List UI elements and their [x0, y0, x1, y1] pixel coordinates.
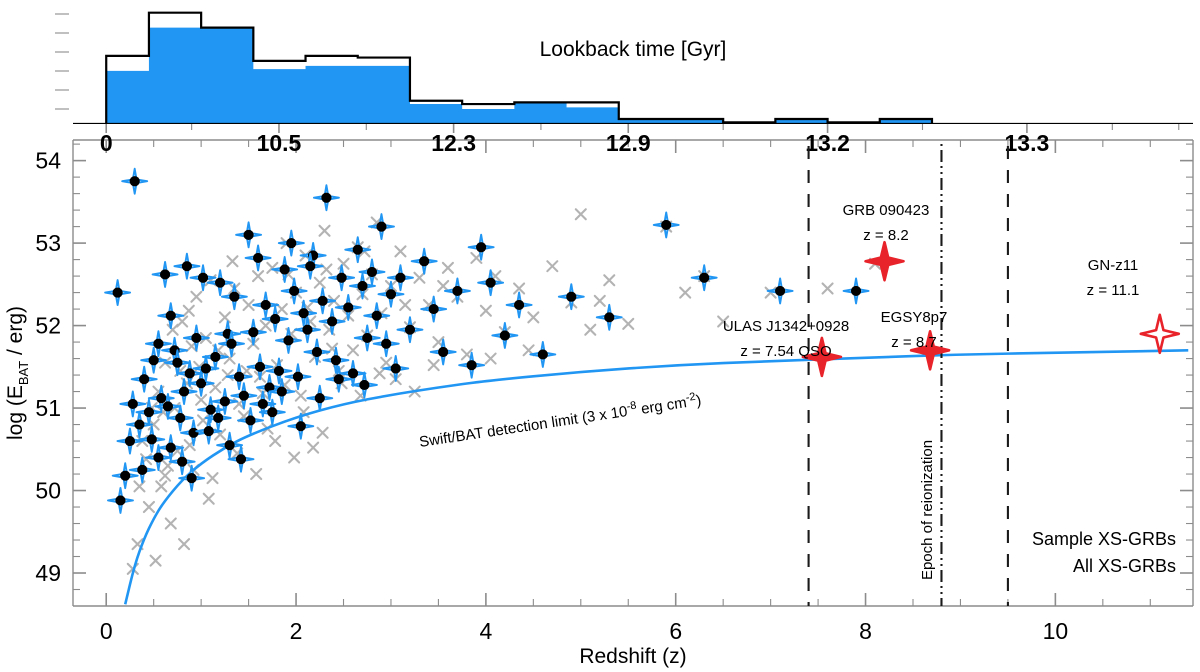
- sample-grb-dot: [220, 396, 230, 406]
- grb-energy-redshift-plot: Lookback time [Gyr] 010.512.312.913.213.…: [0, 0, 1200, 672]
- sample-grb-dot: [163, 401, 173, 411]
- x-tick-6: 6: [669, 618, 682, 644]
- sample-grb-dot: [156, 393, 166, 403]
- lookback-tick-10.5: 10.5: [257, 130, 302, 156]
- x-tick-10: 10: [1043, 618, 1069, 644]
- sample-grb-dot: [144, 407, 154, 417]
- sample-grb-dot: [699, 273, 709, 283]
- sample-grb-dot: [201, 363, 211, 373]
- sample-grb-dot: [514, 300, 524, 310]
- sample-grb-dot: [125, 436, 135, 446]
- sample-grb-dot: [337, 273, 347, 283]
- sample-grb-dot: [258, 399, 268, 409]
- sample-grb-dot: [270, 314, 280, 324]
- annotation-redshift-gn-z11: z = 11.1: [1087, 282, 1140, 299]
- sample-grb-dot: [139, 374, 149, 384]
- sample-grb-dot: [166, 311, 176, 321]
- sample-grb-dot: [153, 452, 163, 462]
- sample-grb-dot: [234, 372, 244, 382]
- sample-grb-dot: [604, 312, 614, 322]
- sample-grb-dot: [286, 238, 296, 248]
- sample-grb-dot: [175, 413, 185, 423]
- sample-grb-dot: [305, 261, 315, 271]
- sample-grb-dot: [191, 333, 201, 343]
- figure-root: Lookback time [Gyr] 010.512.312.913.213.…: [0, 0, 1200, 672]
- sample-grb-dot: [229, 292, 239, 302]
- sample-grb-dot: [274, 366, 284, 376]
- sample-grb-dot: [261, 300, 271, 310]
- sample-grb-dot: [283, 335, 293, 345]
- y-axis-title-suffix: / erg): [4, 306, 27, 361]
- sample-grb-dot: [160, 269, 170, 279]
- sample-grb-dot: [245, 415, 255, 425]
- sample-grb-dot: [386, 289, 396, 299]
- sample-grb-dot: [166, 443, 176, 453]
- legend-item-all: All XS-GRBs: [1073, 556, 1176, 576]
- annotation-redshift-egsy8p7: z = 8.7: [891, 334, 936, 351]
- y-tick-51: 51: [35, 395, 61, 421]
- sample-grb-dot: [172, 358, 182, 368]
- y-tick-53: 53: [35, 230, 61, 256]
- sample-grb-dot: [476, 242, 486, 252]
- sample-grb-dot: [538, 349, 548, 359]
- lookback-tick-13.2: 13.2: [805, 130, 850, 156]
- sample-grb-dot: [267, 407, 277, 417]
- sample-grb-dot: [225, 440, 235, 450]
- sample-grb-dot: [486, 278, 496, 288]
- y-axis-title-prefix: log (E: [4, 385, 27, 440]
- sample-grb-dot: [115, 495, 125, 505]
- x-tick-8: 8: [859, 618, 872, 644]
- sample-grb-dot: [296, 421, 306, 431]
- sample-grb-dot: [289, 286, 299, 296]
- sample-grb-dot: [177, 457, 187, 467]
- sample-grb-dot: [359, 380, 369, 390]
- sample-grb-dot: [206, 405, 216, 415]
- annotation-redshift-grb-090423: z = 8.2: [863, 227, 908, 244]
- sample-grb-dot: [147, 434, 157, 444]
- lookback-tick-12.9: 12.9: [606, 130, 651, 156]
- lookback-tick-0: 0: [100, 130, 113, 156]
- sample-grb-dot: [185, 368, 195, 378]
- sample-grb-dot: [348, 368, 358, 378]
- sample-grb-dot: [255, 362, 265, 372]
- sample-grb-dot: [236, 454, 246, 464]
- sample-grb-dot: [188, 428, 198, 438]
- sample-grb-dot: [851, 286, 861, 296]
- y-tick-54: 54: [35, 148, 61, 174]
- sample-grb-dot: [302, 325, 312, 335]
- sample-grb-dot: [277, 386, 287, 396]
- sample-grb-dot: [334, 374, 344, 384]
- legend-item-sample: Sample XS-GRBs: [1032, 529, 1176, 549]
- sample-grb-dot: [243, 230, 253, 240]
- annotation-name-grb-090423: GRB 090423: [843, 202, 930, 219]
- epoch-of-reionization-label: Epoch of reionization: [919, 440, 936, 580]
- sample-grb-dot: [312, 347, 322, 357]
- sample-grb-dot: [500, 330, 510, 340]
- sample-grb-dot: [120, 471, 130, 481]
- sample-grb-dot: [376, 222, 386, 232]
- sample-grb-dot: [213, 413, 223, 423]
- sample-grb-dot: [182, 261, 192, 271]
- sample-grb-dot: [134, 419, 144, 429]
- sample-grb-dot: [419, 256, 429, 266]
- sample-grb-dot: [405, 325, 415, 335]
- annotation-redshift-ulas-j1342: z = 7.54 QSO: [740, 343, 831, 360]
- sample-grb-dot: [253, 253, 263, 263]
- sample-grb-dot: [381, 339, 391, 349]
- sample-grb-dot: [179, 386, 189, 396]
- sample-grb-dot: [113, 287, 123, 297]
- sample-grb-dot: [215, 278, 225, 288]
- sample-grb-dot: [452, 286, 462, 296]
- y-tick-50: 50: [35, 478, 61, 504]
- sample-grb-dot: [210, 352, 220, 362]
- top-axis-title: Lookback time [Gyr]: [540, 38, 727, 61]
- sample-grb-dot: [293, 372, 303, 382]
- sample-grb-dot: [467, 360, 477, 370]
- annotation-name-ulas-j1342: ULAS J1342+0928: [723, 318, 849, 335]
- annotation-name-gn-z11: GN-z11: [1088, 257, 1139, 274]
- x-tick-0: 0: [100, 618, 113, 644]
- sample-grb-dot: [438, 347, 448, 357]
- sample-grb-dot: [362, 333, 372, 343]
- annotation-name-egsy8p7: EGSY8p7: [881, 309, 948, 326]
- sample-grb-dot: [318, 296, 328, 306]
- sample-grb-dot: [429, 304, 439, 314]
- sample-grb-dot: [153, 339, 163, 349]
- sample-grb-dot: [372, 311, 382, 321]
- sample-grb-dot: [187, 473, 197, 483]
- sample-grb-dot: [149, 355, 159, 365]
- sample-grb-dot: [331, 355, 341, 365]
- y-tick-49: 49: [35, 560, 61, 586]
- sample-grb-dot: [661, 220, 671, 230]
- sample-grb-dot: [327, 316, 337, 326]
- sample-grb-dot: [204, 426, 214, 436]
- sample-grb-dot: [353, 245, 363, 255]
- x-tick-4: 4: [479, 618, 492, 644]
- lookback-tick-12.3: 12.3: [431, 130, 476, 156]
- sample-grb-dot: [391, 363, 401, 373]
- sample-grb-dot: [130, 176, 140, 186]
- sample-grb-dot: [367, 267, 377, 277]
- sample-grb-dot: [357, 281, 367, 291]
- sample-grb-dot: [775, 286, 785, 296]
- sample-grb-dot: [395, 273, 405, 283]
- sample-grb-dot: [280, 264, 290, 274]
- x-axis-title: Redshift (z): [579, 645, 686, 668]
- lookback-tick-13.3: 13.3: [1005, 130, 1050, 156]
- sample-grb-dot: [321, 193, 331, 203]
- y-axis-title-subscript: BAT: [16, 361, 31, 385]
- y-tick-52: 52: [35, 313, 61, 339]
- sample-grb-dot: [248, 327, 258, 337]
- sample-grb-dot: [226, 339, 236, 349]
- x-tick-2: 2: [290, 618, 303, 644]
- sample-grb-dot: [128, 399, 138, 409]
- sample-grb-dot: [137, 465, 147, 475]
- sample-grb-dot: [239, 391, 249, 401]
- sample-grb-dot: [315, 393, 325, 403]
- sample-grb-dot: [566, 292, 576, 302]
- sample-grb-dot: [198, 273, 208, 283]
- sample-grb-dot: [343, 302, 353, 312]
